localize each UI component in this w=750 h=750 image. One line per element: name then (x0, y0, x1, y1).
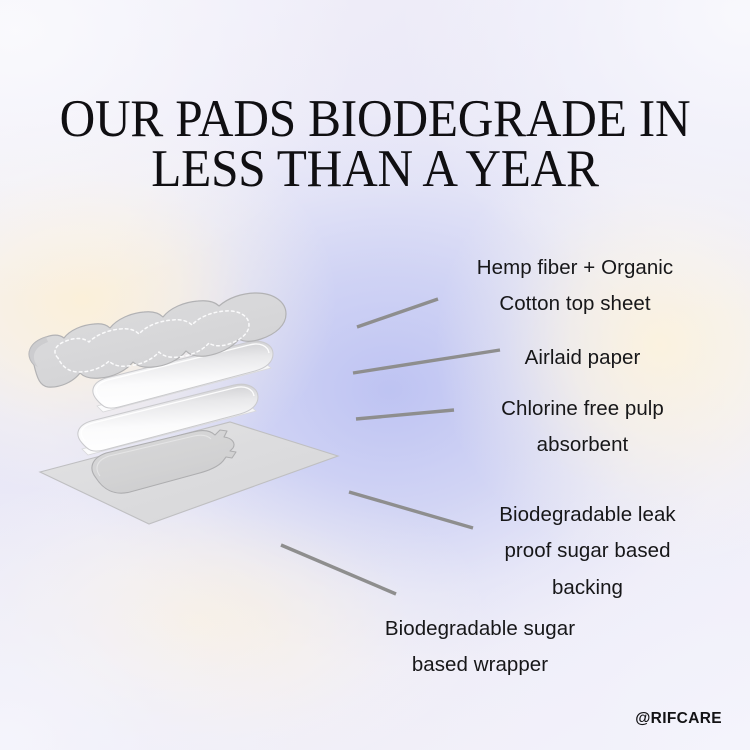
leader-line-topsheet (357, 299, 438, 327)
label-line: Chlorine free pulp (440, 391, 725, 427)
label-sugar-based-backing: Biodegradable leak proof sugar based bac… (450, 497, 725, 606)
infographic-canvas: OUR PADS BIODEGRADE IN LESS THAN A YEAR (0, 0, 750, 750)
label-line: Hemp fiber + Organic (430, 250, 720, 286)
label-line: Biodegradable leak (450, 497, 725, 533)
label-line: Biodegradable sugar (335, 611, 625, 647)
brand-handle: @RIFCARE (635, 710, 722, 728)
label-line: Cotton top sheet (430, 286, 720, 322)
label-line: backing (450, 570, 725, 606)
leader-line-wrapper (281, 545, 396, 594)
label-hemp-cotton-top-sheet: Hemp fiber + Organic Cotton top sheet (430, 250, 720, 323)
label-sugar-based-wrapper: Biodegradable sugar based wrapper (335, 611, 625, 684)
label-line: proof sugar based (450, 533, 725, 569)
label-line: Airlaid paper (445, 340, 720, 376)
label-chlorine-free-pulp-absorbent: Chlorine free pulp absorbent (440, 391, 725, 464)
label-line: based wrapper (335, 647, 625, 683)
label-airlaid-paper: Airlaid paper (445, 340, 720, 376)
label-line: absorbent (440, 427, 725, 463)
